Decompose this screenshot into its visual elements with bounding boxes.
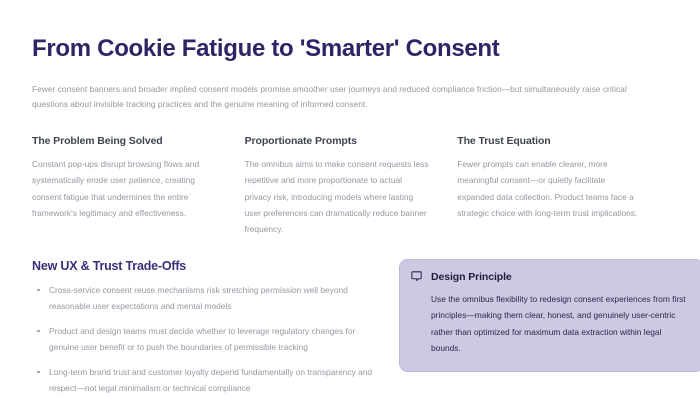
column-heading: The Problem Being Solved [32, 135, 217, 147]
bullet-marker-icon [37, 371, 40, 374]
column-problem-being-solved: The Problem Being Solved Constant pop-up… [32, 135, 245, 238]
column-body: Fewer prompts can enable clearer, more m… [457, 156, 642, 222]
list-item: Product and design teams must decide whe… [32, 324, 377, 356]
lower-section: New UX & Trust Trade-Offs Cross-service … [32, 259, 670, 406]
callout-body: Use the omnibus flexibility to redesign … [431, 291, 689, 357]
list-item: Cross-service consent reuse mechanisms r… [32, 283, 377, 315]
design-principle-callout: Design Principle Use the omnibus flexibi… [399, 259, 700, 373]
lead-paragraph: Fewer consent banners and broader implie… [32, 82, 657, 113]
column-body: The omnibus aims to make consent request… [245, 156, 430, 238]
column-heading: The Trust Equation [457, 135, 642, 147]
column-heading: Proportionate Prompts [245, 135, 430, 147]
document-page: From Cookie Fatigue to 'Smarter' Consent… [0, 0, 700, 400]
column-body: Constant pop-ups disrupt browsing flows … [32, 156, 217, 222]
three-column-section: The Problem Being Solved Constant pop-up… [32, 135, 670, 238]
trade-offs-block: New UX & Trust Trade-Offs Cross-service … [32, 259, 377, 406]
callout-header: Design Principle [411, 271, 689, 283]
column-proportionate-prompts: Proportionate Prompts The omnibus aims t… [245, 135, 458, 238]
section-heading: New UX & Trust Trade-Offs [32, 259, 377, 273]
page-title: From Cookie Fatigue to 'Smarter' Consent [32, 35, 670, 64]
bullet-marker-icon [37, 330, 40, 333]
column-trust-equation: The Trust Equation Fewer prompts can ena… [457, 135, 670, 238]
message-square-icon [411, 271, 422, 282]
list-item-text: Long-term brand trust and customer loyal… [49, 367, 372, 393]
list-item-text: Cross-service consent reuse mechanisms r… [49, 285, 348, 311]
bullet-marker-icon [37, 289, 40, 292]
callout-title: Design Principle [431, 271, 512, 283]
list-item-text: Product and design teams must decide whe… [49, 326, 355, 352]
trade-offs-list: Cross-service consent reuse mechanisms r… [32, 283, 377, 397]
list-item: Long-term brand trust and customer loyal… [32, 365, 377, 397]
